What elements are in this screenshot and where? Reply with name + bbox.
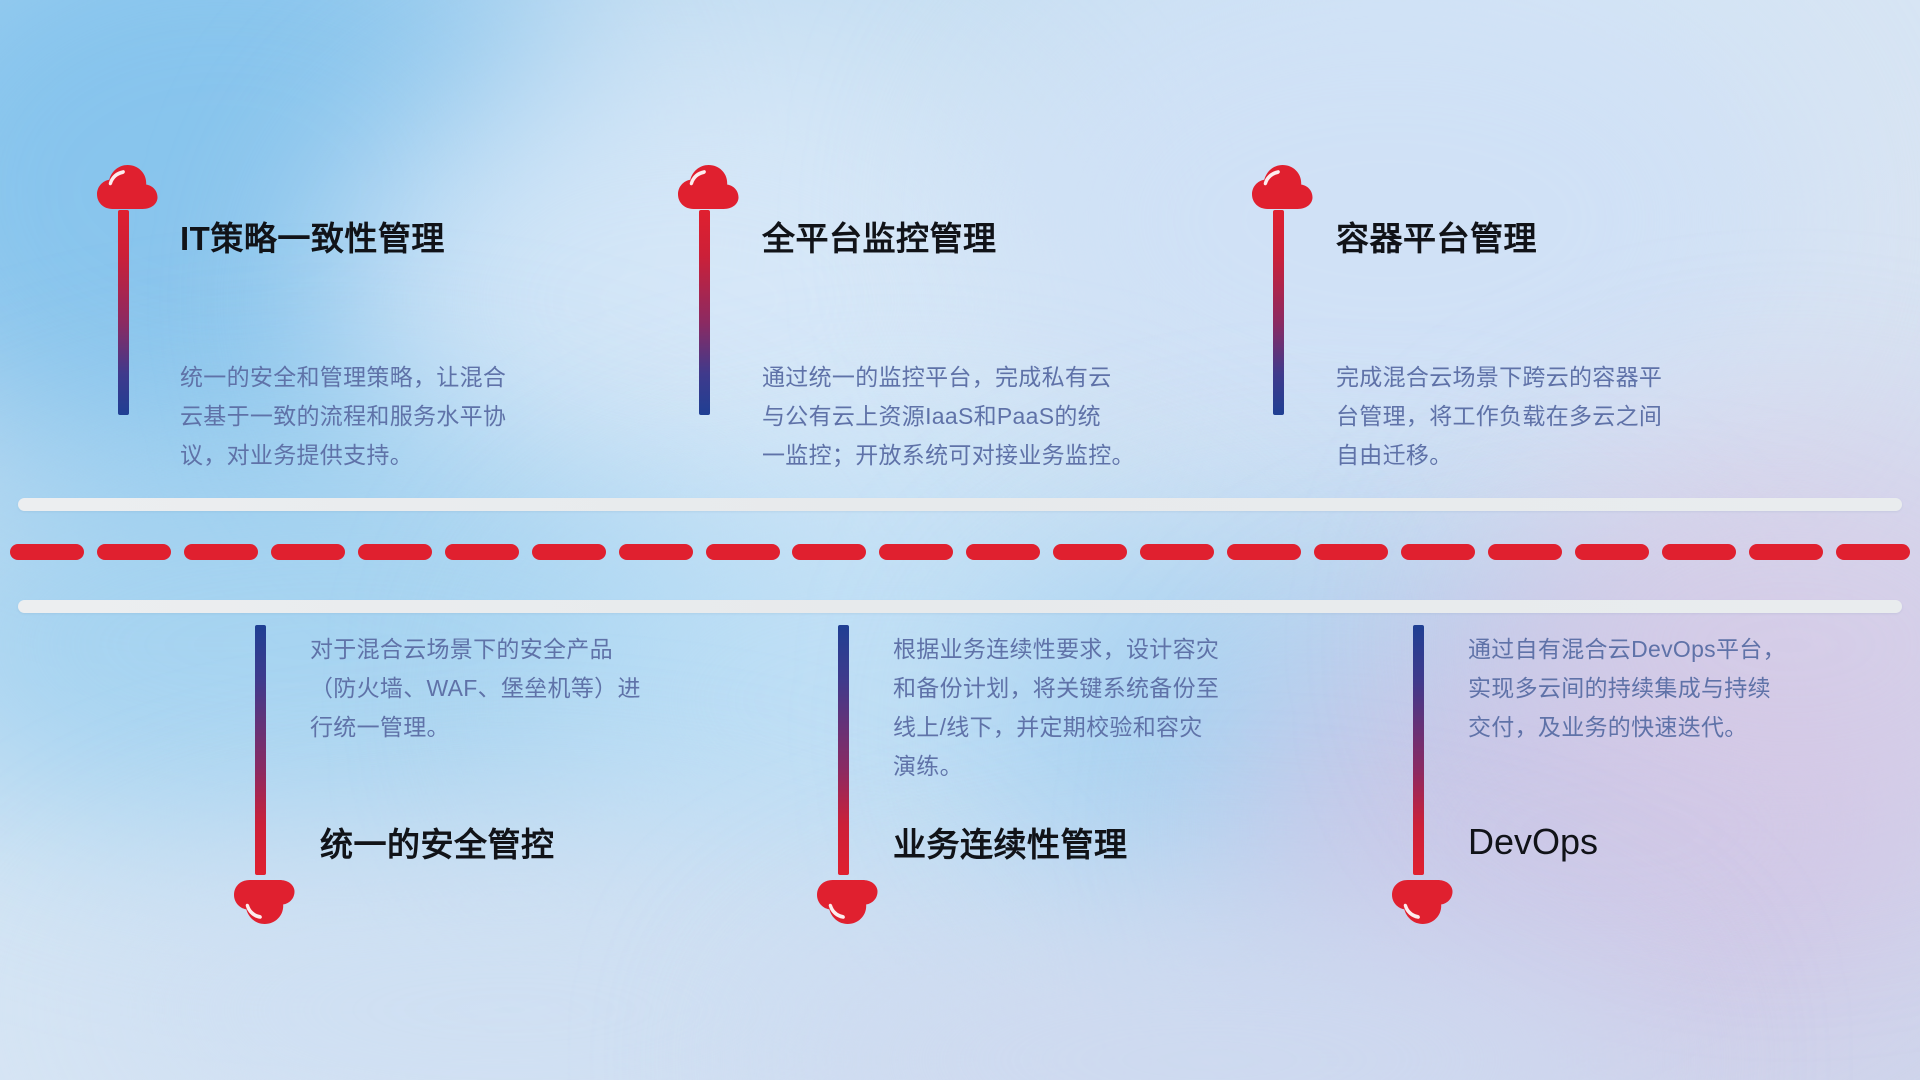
bottom-column-1 [255,625,298,929]
column-title: DevOps [1468,824,1598,860]
top-column-2 [676,160,742,415]
top-title-3: 容器平台管理 [1336,222,1537,255]
top-body-2: 通过统一的监控平台，完成私有云 与公有云上资源IaaS和PaaS的统 一监控；开… [762,358,1212,475]
road-dash-segment [1053,544,1127,560]
column-description: 对于混合云场景下的安全产品 （防火墙、WAF、堡垒机等）进 行统一管理。 [310,630,740,747]
bottom-title-2: 业务连续性管理 [893,828,1128,861]
bottom-column-2 [838,625,881,929]
connector-stem [699,210,710,415]
connector-stem [1273,210,1284,415]
column-title: 容器平台管理 [1336,222,1537,255]
road-dash-segment [792,544,866,560]
road-dash-segment [271,544,345,560]
road-rail-bottom [18,600,1902,613]
column-title: 统一的安全管控 [320,828,555,861]
connector-stem [255,625,266,875]
bottom-title-3: DevOps [1468,824,1598,860]
road-dash-segment [532,544,606,560]
connector-stem [838,625,849,875]
column-description: 完成混合云场景下跨云的容器平 台管理，将工作负载在多云之间 自由迁移。 [1336,358,1776,475]
infographic-canvas: IT策略一致性管理 统一的安全和管理策略，让混合 云基于一致的流程和服务水平协 … [0,0,1920,1080]
cloud-icon [676,160,742,210]
road-dash-segment [879,544,953,560]
column-title: 业务连续性管理 [893,828,1128,861]
bottom-column-3 [1413,625,1456,929]
road-dash-segment [1140,544,1214,560]
road-dash-segment [1488,544,1562,560]
road-dashed-center-line [10,544,1910,560]
road-dash-segment [1314,544,1388,560]
bottom-title-1: 统一的安全管控 [320,828,555,861]
cloud-icon [1250,160,1316,210]
road-rail-top [18,498,1902,511]
bottom-body-3: 通过自有混合云DevOps平台， 实现多云间的持续集成与持续 交付，及业务的快速… [1468,630,1888,747]
road-dash-segment [1401,544,1475,560]
top-body-1: 统一的安全和管理策略，让混合 云基于一致的流程和服务水平协 议，对业务提供支持。 [180,358,610,475]
top-body-3: 完成混合云场景下跨云的容器平 台管理，将工作负载在多云之间 自由迁移。 [1336,358,1776,475]
road-dash-segment [10,544,84,560]
road-dash-segment [1749,544,1823,560]
road-dash-segment [358,544,432,560]
top-column-3 [1250,160,1316,415]
column-description: 通过自有混合云DevOps平台， 实现多云间的持续集成与持续 交付，及业务的快速… [1468,630,1888,747]
connector-stem [118,210,129,415]
column-title: 全平台监控管理 [762,222,997,255]
bottom-body-1: 对于混合云场景下的安全产品 （防火墙、WAF、堡垒机等）进 行统一管理。 [310,630,740,747]
road-dash-segment [97,544,171,560]
road-dash-segment [1836,544,1910,560]
cloud-icon [815,879,881,929]
road-dash-segment [619,544,693,560]
connector-stem [1413,625,1424,875]
cloud-icon [95,160,161,210]
road-dash-segment [184,544,258,560]
road-dash-segment [706,544,780,560]
cloud-icon [232,879,298,929]
bottom-body-2: 根据业务连续性要求，设计容灾 和备份计划，将关键系统备份至 线上/线下，并定期校… [893,630,1323,786]
road-dash-segment [445,544,519,560]
column-description: 统一的安全和管理策略，让混合 云基于一致的流程和服务水平协 议，对业务提供支持。 [180,358,610,475]
column-title: IT策略一致性管理 [180,222,445,255]
top-title-1: IT策略一致性管理 [180,222,445,255]
column-description: 通过统一的监控平台，完成私有云 与公有云上资源IaaS和PaaS的统 一监控；开… [762,358,1212,475]
top-column-1 [95,160,161,415]
cloud-icon [1390,879,1456,929]
top-title-2: 全平台监控管理 [762,222,997,255]
road-dash-segment [1662,544,1736,560]
road-dash-segment [1227,544,1301,560]
road-dash-segment [966,544,1040,560]
column-description: 根据业务连续性要求，设计容灾 和备份计划，将关键系统备份至 线上/线下，并定期校… [893,630,1323,786]
road-dash-segment [1575,544,1649,560]
